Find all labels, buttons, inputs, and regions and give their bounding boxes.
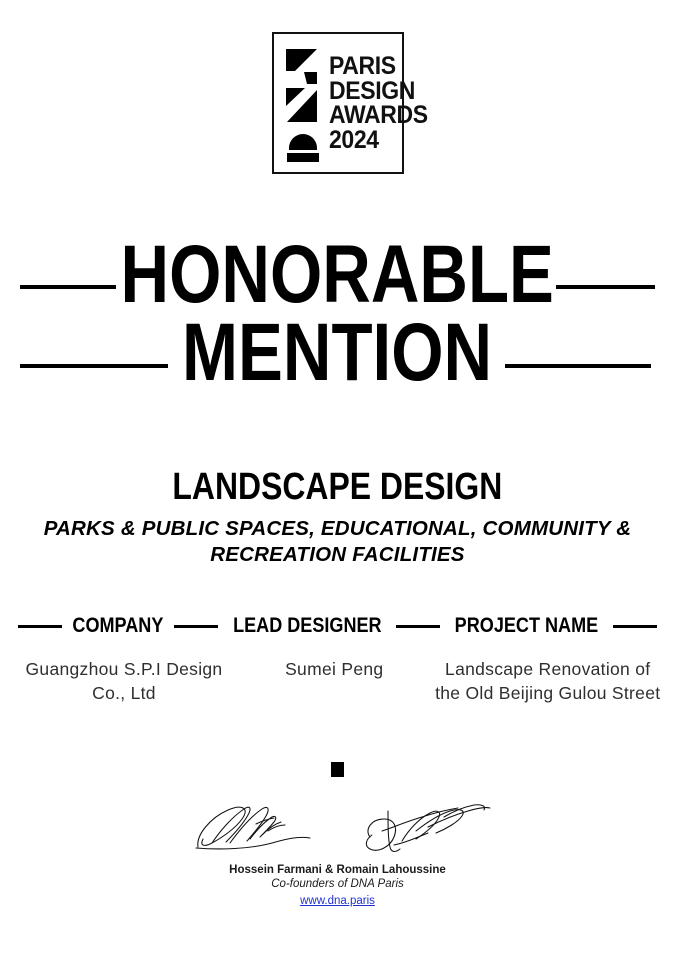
seal-square-icon — [331, 762, 344, 777]
credits-header-row: COMPANY LEAD DESIGNER PROJECT NAME — [0, 612, 675, 640]
dna-monogram-icon — [283, 44, 323, 162]
signature-section: Hossein Farmani & Romain Lahoussine Co-f… — [0, 762, 675, 909]
credits-value-row: Guangzhou S.P.I Design Co., Ltd Sumei Pe… — [0, 657, 675, 705]
title-rule-bottom-left — [20, 364, 168, 368]
header-dash — [18, 625, 62, 628]
award-title-row-1: HONORABLE — [0, 236, 675, 314]
title-rule-bottom-right — [505, 364, 651, 368]
award-category: LANDSCAPE DESIGN PARKS & PUBLIC SPACES, … — [0, 466, 675, 568]
award-title-line-2: MENTION — [182, 314, 492, 392]
logo-line-awards: AWARDS — [329, 103, 428, 128]
header-dash — [396, 625, 440, 628]
credits-header-lead-designer: LEAD DESIGNER — [230, 614, 384, 638]
logo-wordmark: PARIS DESIGN AWARDS 2024 — [323, 54, 436, 152]
logo-frame: PARIS DESIGN AWARDS 2024 — [272, 32, 404, 174]
credits-value-company: Guangzhou S.P.I Design Co., Ltd — [14, 657, 234, 705]
signatory-role: Co-founders of DNA Paris — [0, 877, 675, 891]
header-dash — [174, 625, 218, 628]
header-dash — [613, 625, 657, 628]
certificate-page: PARIS DESIGN AWARDS 2024 HONORABLE MENTI… — [0, 0, 675, 954]
signature-romain-lahoussine-icon — [358, 791, 493, 857]
signature-hossein-farmani-icon — [190, 791, 320, 857]
award-title-line-1: HONORABLE — [121, 236, 554, 314]
signature-marks — [0, 791, 675, 863]
logo-line-design: DESIGN — [329, 79, 415, 104]
award-title: HONORABLE MENTION — [0, 236, 675, 392]
dna-paris-link[interactable]: www.dna.paris — [300, 894, 375, 909]
credits-section: COMPANY LEAD DESIGNER PROJECT NAME Guang… — [0, 612, 675, 705]
credits-value-lead-designer: Sumei Peng — [234, 657, 435, 705]
category-main-label: LANDSCAPE DESIGN — [173, 466, 503, 508]
title-rule-top-right — [556, 285, 655, 289]
logo-line-paris: PARIS — [329, 54, 396, 79]
award-title-row-2: MENTION — [0, 314, 675, 392]
credits-value-project-name: Landscape Renovation of the Old Beijing … — [435, 657, 661, 705]
credits-header-company: COMPANY — [70, 614, 166, 638]
logo-line-year: 2024 — [329, 128, 379, 153]
credits-header-project-name: PROJECT NAME — [452, 614, 601, 638]
category-sub-label: PARKS & PUBLIC SPACES, EDUCATIONAL, COMM… — [0, 516, 675, 568]
signatory-names: Hossein Farmani & Romain Lahoussine — [0, 863, 675, 877]
title-rule-top-left — [20, 285, 116, 289]
award-logo: PARIS DESIGN AWARDS 2024 — [0, 32, 675, 174]
